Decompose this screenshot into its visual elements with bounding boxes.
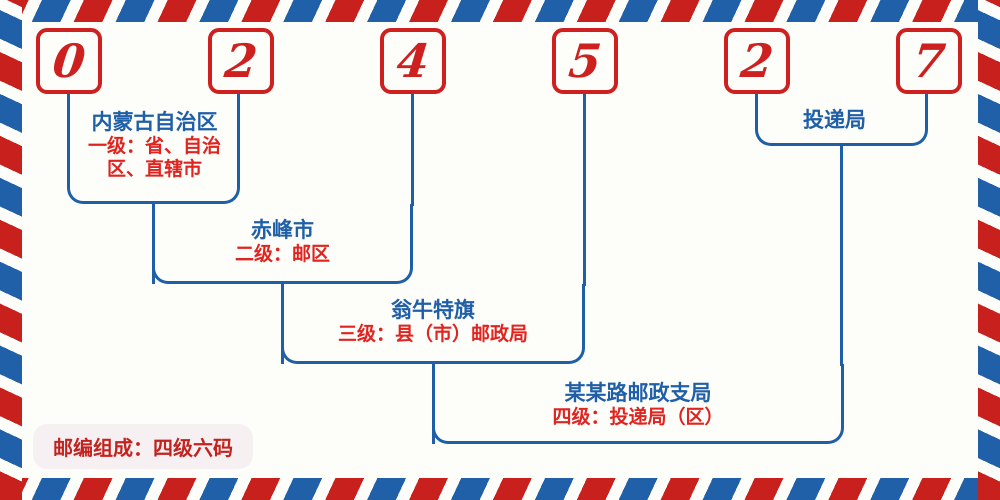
label-level-1: 内蒙古自治区 一级：省、自治区、直辖市 [72, 110, 237, 180]
connector-delivery-down [840, 146, 843, 366]
label-level-1-name: 内蒙古自治区 [72, 110, 237, 135]
digit-glyph-2: 2 [223, 38, 260, 84]
digit-box-5[interactable]: 2 [724, 28, 790, 94]
digit-box-4[interactable]: 5 [552, 28, 618, 94]
connector-digit-4-stem [583, 94, 586, 286]
envelope-border-bottom [0, 478, 1000, 500]
digit-glyph-3: 4 [395, 38, 432, 84]
connector-level-3-down [432, 364, 435, 444]
label-level-2: 赤峰市 二级：邮区 [160, 218, 405, 266]
digit-glyph-5: 2 [739, 38, 776, 84]
envelope-border-left [0, 0, 22, 500]
label-level-4-name: 某某路邮政支局 [440, 381, 836, 406]
label-level-4: 某某路邮政支局 四级：投递局（区） [440, 381, 836, 429]
digit-box-1[interactable]: 0 [36, 28, 102, 94]
digit-glyph-6: 7 [911, 38, 948, 84]
label-level-2-level: 二级：邮区 [160, 243, 405, 266]
digit-box-3[interactable]: 4 [380, 28, 446, 94]
connector-digit-3-stem [411, 94, 414, 206]
digit-box-6[interactable]: 7 [896, 28, 962, 94]
label-delivery-office: 投递局 [803, 104, 866, 134]
connector-level-2-down [281, 284, 284, 364]
label-level-3-level: 三级：县（市）邮政局 [289, 323, 577, 346]
envelope-border-right [978, 0, 1000, 500]
connector-level-1-down [152, 204, 155, 284]
digit-glyph-4: 5 [567, 38, 604, 84]
footer-badge: 邮编组成：四级六码 [33, 424, 253, 469]
digit-box-2[interactable]: 2 [208, 28, 274, 94]
label-level-3: 翁牛特旗 三级：县（市）邮政局 [289, 298, 577, 346]
label-level-2-name: 赤峰市 [160, 218, 405, 243]
label-level-1-level: 一级：省、自治区、直辖市 [75, 135, 235, 181]
envelope-border-top [0, 0, 1000, 22]
postcode-diagram: 0 2 4 5 2 7 内蒙古自治区 一级：省、自治区、直辖市 赤峰市 二级：邮… [0, 0, 1000, 500]
label-level-3-name: 翁牛特旗 [289, 298, 577, 323]
digit-glyph-1: 0 [51, 38, 88, 84]
label-level-4-level: 四级：投递局（区） [440, 406, 836, 429]
